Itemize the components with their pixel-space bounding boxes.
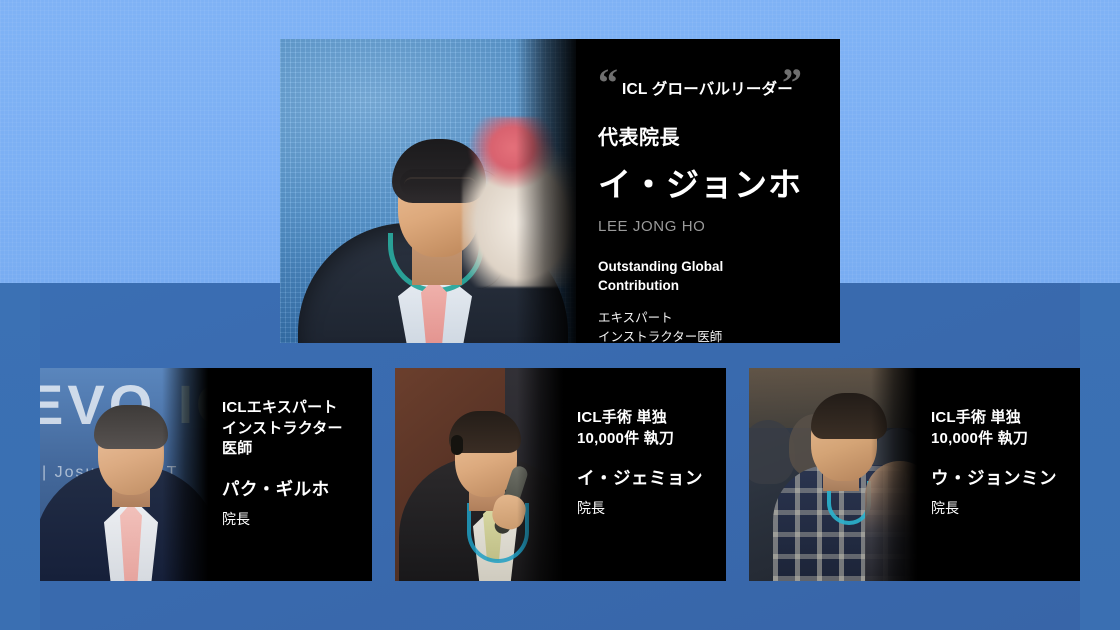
card1-role: 院長 [222,509,360,529]
hero-quote-row: “ ” ICL グローバルリーダー [598,59,820,103]
card3-title-line-2: 10,000件 執刀 [931,429,1068,450]
card2-title-line-1: ICL手術 単独 [577,408,714,429]
doctor-card-park-gil-ho[interactable]: EVO IC | Josu ... nce T ICLエキスパート インストラク… [40,368,372,581]
card2-role: 院長 [577,498,714,518]
card2-title: ICL手術 単独 10,000件 執刀 [577,408,714,449]
hero-tagline: ICL グローバルリーダー [622,77,793,99]
doctor-photo-woo-jong-min [749,368,917,581]
hero-award-line-2: Contribution [598,276,820,295]
card3-text-block: ICL手術 単独 10,000件 執刀 ウ・ジョンミン 院長 [917,368,1080,581]
card1-title: ICLエキスパート インストラクター 医師 [222,398,360,460]
hero-earpiece-wire-shape [476,169,506,289]
hero-subtitle: エキスパート インストラクター医師 [598,309,820,343]
hero-tie-shape [421,279,447,343]
card2-name: イ・ジェミョン [577,465,714,490]
card1-text-block: ICLエキスパート インストラクター 医師 パク・ギルホ 院長 [208,368,372,581]
hero-subtitle-line-1: エキスパート [598,309,820,328]
hero-name: イ・ジョンホ [598,158,820,206]
hero-role: 代表院長 [598,121,820,150]
card2-earpiece-shape [451,435,463,455]
hero-text-block: “ ” ICL グローバルリーダー 代表院長 イ・ジョンホ LEE JONG H… [576,39,840,343]
card2-photo-fade-overlay [517,368,563,581]
card2-text-block: ICL手術 単独 10,000件 執刀 イ・ジェミョン 院長 [563,368,726,581]
hero-subtitle-line-2: インストラクター医師 [598,328,820,343]
doctor-card-list: EVO IC | Josu ... nce T ICLエキスパート インストラク… [40,368,1080,581]
doctor-card-woo-jong-min[interactable]: ICL手術 単独 10,000件 執刀 ウ・ジョンミン 院長 [749,368,1080,581]
hero-award-line-1: Outstanding Global [598,257,820,276]
card1-title-line-1: ICLエキスパート [222,398,360,419]
hero-name-romaji: LEE JONG HO [598,218,820,235]
card3-role: 院長 [931,498,1068,518]
card1-title-line-2: インストラクター [222,419,360,440]
card3-title-line-1: ICL手術 単独 [931,408,1068,429]
hero-hair-shape [392,139,486,203]
card1-photo-fade-overlay [162,368,208,581]
card1-title-line-3: 医師 [222,439,360,460]
quote-open-icon: “ [598,63,618,103]
hero-card[interactable]: “ ” ICL グローバルリーダー 代表院長 イ・ジョンホ LEE JONG H… [280,39,840,343]
doctor-card-lee-je-myung[interactable]: ICL手術 単独 10,000件 執刀 イ・ジェミョン 院長 [395,368,726,581]
card1-hair-shape [94,405,168,449]
doctor-photo-park-gil-ho: EVO IC | Josu ... nce T [40,368,208,581]
card2-title-line-2: 10,000件 執刀 [577,429,714,450]
card3-name: ウ・ジョンミン [931,465,1068,490]
hero-glasses-shape [404,177,476,193]
card1-name: パク・ギルホ [222,476,360,501]
hero-award: Outstanding Global Contribution [598,257,820,295]
hero-photo-fade-overlay [516,39,580,343]
card3-photo-fade-overlay [871,368,917,581]
doctor-photo-lee-je-myung [395,368,563,581]
card3-title: ICL手術 単独 10,000件 執刀 [931,408,1068,449]
